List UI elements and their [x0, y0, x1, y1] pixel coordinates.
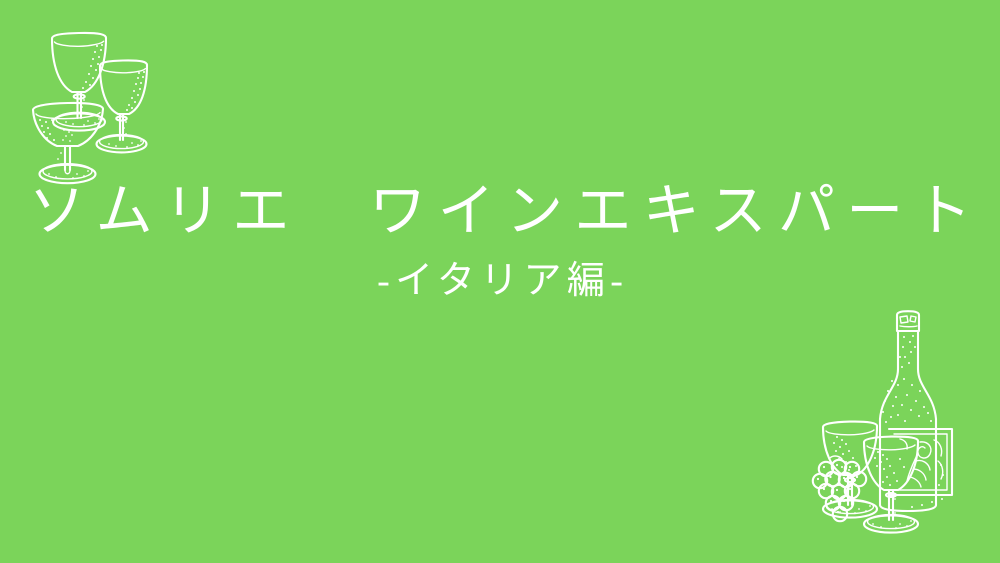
- title-block: ソムリエ ワインエキスパート -イタリア編-: [0, 178, 1000, 305]
- wine-glass-left-icon: [823, 422, 877, 518]
- wine-glass-right-icon: [864, 437, 918, 533]
- goblet-back-left-icon: [52, 33, 106, 131]
- coupe-glass-front-icon: [33, 103, 103, 183]
- page-subtitle: -イタリア編-: [0, 259, 1000, 305]
- page-title: ソムリエ ワインエキスパート: [0, 178, 1000, 245]
- wine-bottle-illustration: [812, 309, 972, 539]
- goblet-back-right-icon: [97, 60, 148, 152]
- slide-canvas: ソムリエ ワインエキスパート -イタリア編-: [0, 0, 1000, 563]
- wine-bottle-icon: [880, 311, 952, 511]
- grape-bunch-icon: [813, 456, 866, 521]
